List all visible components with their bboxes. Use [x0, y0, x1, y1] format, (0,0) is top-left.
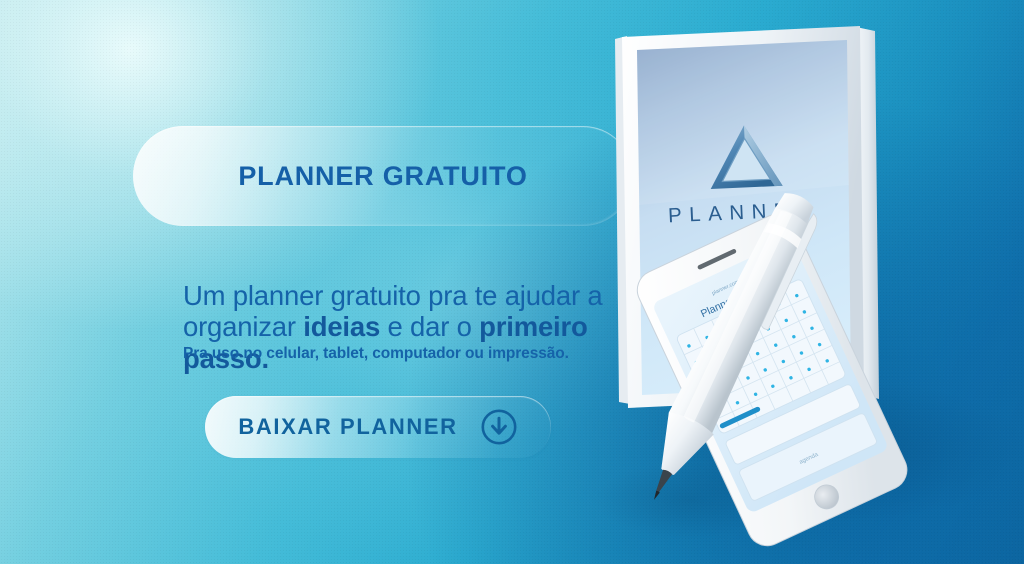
download-planner-button[interactable]: BAIXAR PLANNER [205, 396, 551, 458]
download-planner-label: BAIXAR PLANNER [238, 414, 457, 440]
headline-bold-ideias: ideias [303, 311, 380, 342]
download-circle-arrow-icon [480, 408, 518, 446]
page-title: PLANNER GRATUITO [238, 161, 527, 192]
headline-part-2: e dar o [380, 311, 479, 342]
title-pill: PLANNER GRATUITO [133, 126, 633, 226]
subtitle-text: Pra uso no celular, tablet, computador o… [183, 345, 569, 363]
promo-banner: PLANNER GRATUITO Um planner gratuito pra… [0, 0, 1024, 564]
planner-artwork: PLANNER planner.com.br Planner mensal [594, 0, 1024, 564]
content-column: PLANNER GRATUITO Um planner gratuito pra… [0, 0, 660, 564]
